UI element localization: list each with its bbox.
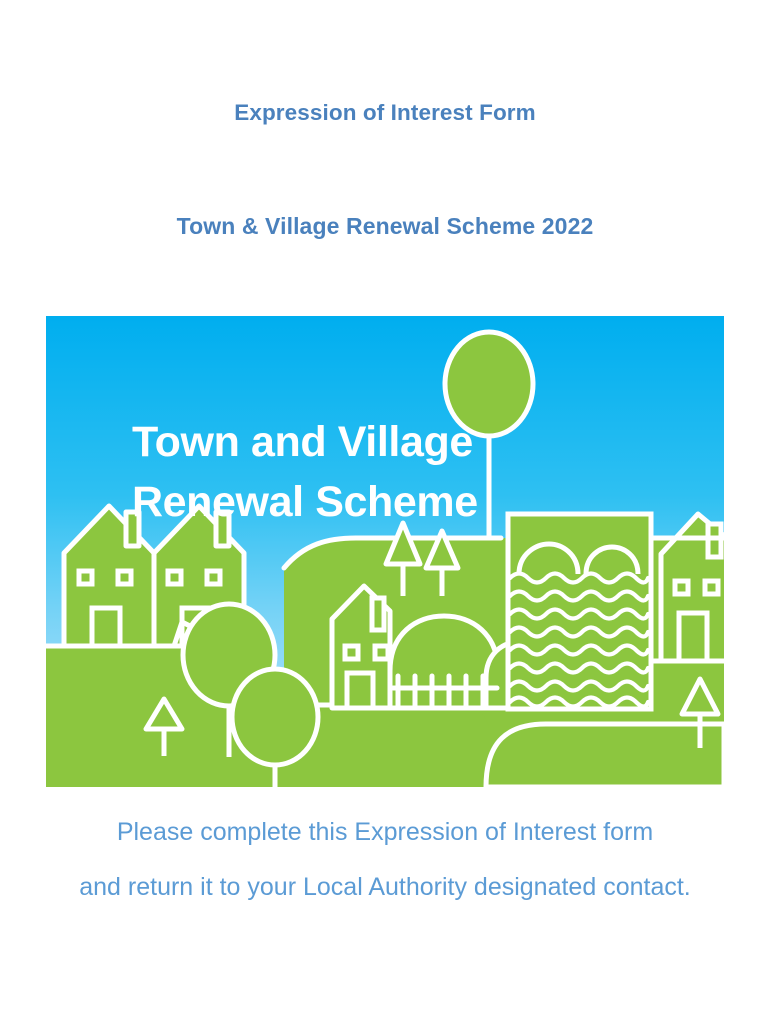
- page-title: Expression of Interest Form: [0, 99, 770, 127]
- document-page: Expression of Interest Form Town & Villa…: [0, 0, 770, 1024]
- right-house: [651, 514, 724, 661]
- page-subtitle: Town & Village Renewal Scheme 2022: [0, 211, 770, 241]
- tree-canopy: [232, 669, 318, 765]
- river-with-bridge: [508, 514, 651, 709]
- scheme-banner-image: Town and Village Renewal Scheme: [46, 316, 724, 787]
- banner-title-line-1: Town and Village: [132, 418, 473, 466]
- banner-illustration: Town and Village Renewal Scheme: [46, 316, 724, 787]
- footer-instruction-line-2: and return it to your Local Authority de…: [0, 860, 770, 915]
- footer-instruction-line-1: Please complete this Expression of Inter…: [0, 805, 770, 860]
- chimney: [372, 598, 384, 630]
- banner-title-line-2: Renewal Scheme: [132, 478, 478, 526]
- ground-field-right: [486, 724, 724, 787]
